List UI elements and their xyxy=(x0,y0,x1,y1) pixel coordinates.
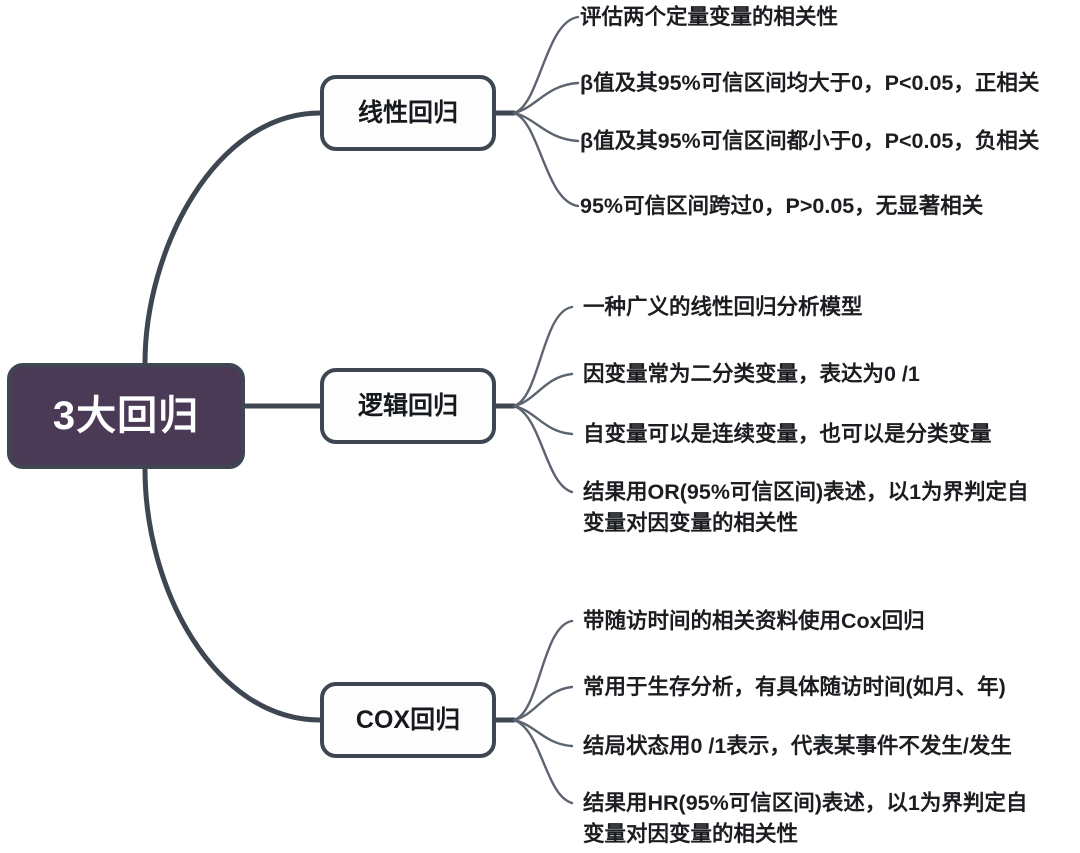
wire-cox-leaf-4 xyxy=(514,720,572,803)
wire-lr-leaf-3 xyxy=(514,113,578,141)
root-node[interactable]: 3大回归 xyxy=(7,363,245,469)
leaf-cox-leaf-2[interactable]: 常用于生存分析，有具体随访时间(如月、年) xyxy=(583,672,1006,703)
branch-label-linear-regression: 线性回归 xyxy=(358,101,458,126)
leaf-cox-leaf-4[interactable]: 结果用HR(95%可信区间)表述，以1为界判定自 变量对因变量的相关性 xyxy=(583,788,1027,850)
wire-log-leaf-3 xyxy=(514,406,572,434)
wire-cox-leaf-2 xyxy=(514,687,572,720)
trunk-to-cox-regression xyxy=(145,469,320,720)
branch-node-linear-regression[interactable]: 线性回归 xyxy=(320,75,496,151)
wire-lr-leaf-4 xyxy=(514,113,578,206)
leaf-lr-leaf-1[interactable]: 评估两个定量变量的相关性 xyxy=(580,2,838,33)
branch-label-cox-regression: COX回归 xyxy=(356,708,460,733)
trunk-to-linear-regression xyxy=(145,113,320,363)
branch-node-logistic-regression[interactable]: 逻辑回归 xyxy=(320,368,496,444)
wire-lr-leaf-2 xyxy=(514,83,578,113)
leaf-log-leaf-2[interactable]: 因变量常为二分类变量，表达为0 /1 xyxy=(583,359,920,390)
leaf-lr-leaf-3[interactable]: β值及其95%可信区间都小于0，P<0.05，负相关 xyxy=(580,126,1039,157)
leaf-cox-leaf-3[interactable]: 结局状态用0 /1表示，代表某事件不发生/发生 xyxy=(583,731,1012,762)
wire-log-leaf-2 xyxy=(514,374,572,406)
leaf-lr-leaf-2[interactable]: β值及其95%可信区间均大于0，P<0.05，正相关 xyxy=(580,68,1039,99)
wire-log-leaf-4 xyxy=(514,406,572,492)
mindmap-canvas: 3大回归 线性回归 逻辑回归 COX回归 评估两个定量变量的相关性 β值及其95… xyxy=(0,0,1080,853)
wire-cox-leaf-3 xyxy=(514,720,572,746)
leaf-log-leaf-1[interactable]: 一种广义的线性回归分析模型 xyxy=(583,292,863,323)
wire-lr-leaf-1 xyxy=(514,17,578,113)
branch-node-cox-regression[interactable]: COX回归 xyxy=(320,682,496,758)
leaf-log-leaf-3[interactable]: 自变量可以是连续变量，也可以是分类变量 xyxy=(583,419,992,450)
leaf-lr-leaf-4[interactable]: 95%可信区间跨过0，P>0.05，无显著相关 xyxy=(580,191,983,222)
leaf-cox-leaf-1[interactable]: 带随访时间的相关资料使用Cox回归 xyxy=(583,606,925,637)
leaf-log-leaf-4[interactable]: 结果用OR(95%可信区间)表述，以1为界判定自 变量对因变量的相关性 xyxy=(583,477,1029,539)
wire-log-leaf-1 xyxy=(514,307,572,406)
wire-cox-leaf-1 xyxy=(514,621,572,720)
root-label: 3大回归 xyxy=(53,396,199,436)
branch-label-logistic-regression: 逻辑回归 xyxy=(358,394,458,419)
